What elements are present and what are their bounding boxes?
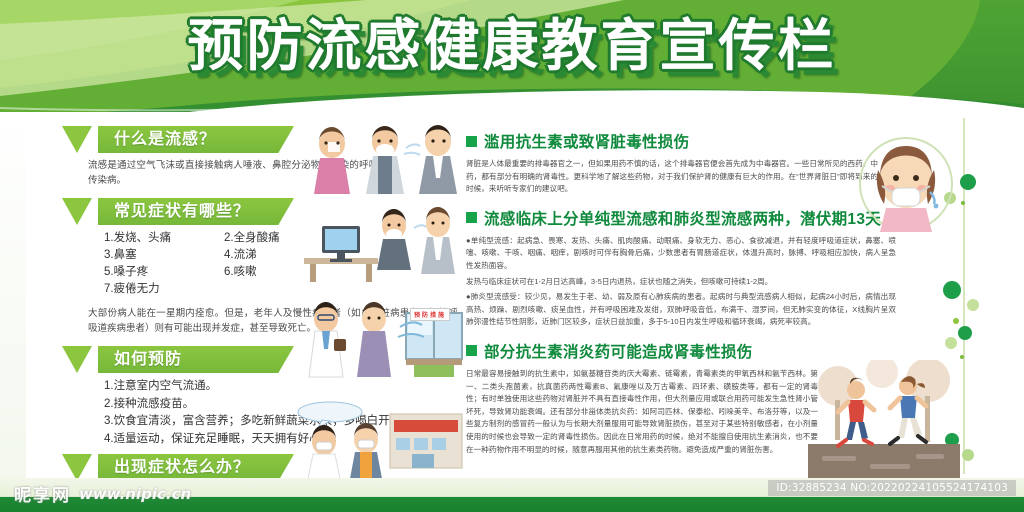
left-edge-strip	[0, 112, 26, 484]
section-banner: 如何预防	[62, 346, 294, 373]
illustration-sneezing-people	[300, 122, 470, 202]
decor-dot	[962, 449, 974, 461]
decor-dot	[960, 174, 976, 190]
section-antibiotic-kidney-damage: 滥用抗生素或致肾脏毒性损伤 肾脏是人体最重要的排毒器官之一，但如果用药不慎的话，…	[466, 130, 906, 196]
decor-dot	[943, 281, 961, 299]
chevron-marker-icon	[62, 126, 92, 153]
watermark: 昵享网 www.nipic.cn	[14, 481, 191, 506]
watermark-url: www.nipic.cn	[79, 485, 191, 503]
section-heading-row: 部分抗生素消炎药可能造成肾毒性损伤	[466, 340, 906, 362]
decor-dot	[961, 201, 965, 205]
section-title: 如何预防	[114, 346, 182, 373]
section-title: 常见症状有哪些？	[114, 198, 250, 225]
section-body: ●肺炎型流感受：较少见，易发生于老、幼、弱及原有心肺疾病的患者。起病时与典型流感…	[466, 291, 896, 329]
section-banner: 出现症状怎么办？	[62, 454, 294, 481]
decor-dot	[967, 299, 979, 311]
illustration-girl-with-mask-circle	[856, 136, 956, 232]
illustration-runners-outdoors	[808, 360, 960, 478]
decor-dot	[960, 355, 964, 359]
watermark-brand: 昵享网	[14, 481, 71, 506]
image-id-tag: ID:32885234 NO:20220224105524174103	[768, 480, 1016, 496]
section-body: ●单纯型流感：起病急、畏寒、发热、头痛、肌肉酸痛、动眼痛、身软无力、恶心、食欲减…	[466, 235, 896, 273]
bullet-square-icon	[466, 212, 477, 223]
chevron-marker-icon	[62, 198, 92, 225]
section-banner: 什么是流感？	[62, 126, 294, 153]
decor-dot	[958, 326, 972, 340]
chevron-marker-icon	[62, 346, 92, 373]
symptom-text: 3.鼻塞	[104, 247, 224, 264]
illustration-mall-and-masked-people	[294, 400, 470, 484]
decor-dot	[953, 318, 959, 324]
decor-dot	[945, 337, 957, 349]
section-title: 出现症状怎么办？	[114, 454, 250, 481]
section-body: 日常最容易接触到的抗生素中，如氨基糖苷类的庆大霉素、链霉素，青霉素类的甲氧西林和…	[466, 368, 818, 456]
right-vertical-rule	[963, 118, 965, 474]
section-banner: 常见症状有哪些？	[62, 198, 294, 225]
section-title: 什么是流感？	[114, 126, 216, 153]
section-title: 部分抗生素消炎药可能造成肾毒性损伤	[484, 340, 753, 362]
illustration-office-worker-desk	[298, 204, 466, 284]
section-body: 肾脏是人体最重要的排毒器官之一，但如果用药不慎的话，这个排毒器官便会首先成为中毒…	[466, 158, 878, 196]
health-education-poster: 预防流感健康教育宣传栏 什么是流感？ 流感是通过空气飞沫或直接接触病人唾液、鼻腔…	[0, 0, 1024, 512]
section-title: 滥用抗生素或致肾脏毒性损伤	[484, 130, 689, 152]
page-title: 预防流感健康教育宣传栏	[188, 18, 837, 77]
section-flu-clinical-types: 流感临床上分单纯型流感和肺炎型流感两种，潜伏期13天 ●单纯型流感：起病急、畏寒…	[466, 207, 906, 329]
section-heading-row: 滥用抗生素或致肾脏毒性损伤	[466, 130, 906, 152]
symptom-text: 5.嗓子疼	[104, 264, 224, 281]
poster-footer: 昵享网 www.nipic.cn ID:32885234 NO:20220224…	[0, 478, 1024, 512]
prevention-caption-badge: 预防措施	[410, 308, 450, 321]
section-body: 发热与临床症状可在1-2月日达高峰，3-5日内退热，症状也随之消失，但咳嗽可持续…	[466, 276, 896, 289]
symptom-text: 7.疲倦无力	[104, 281, 224, 298]
symptom-text: 1.发烧、头痛	[104, 230, 224, 247]
poster-content: 什么是流感？ 流感是通过空气飞沫或直接接触病人唾液、鼻腔分泌物而感染的呼吸道传染…	[0, 112, 1024, 484]
chevron-marker-icon	[62, 454, 92, 481]
section-title: 流感临床上分单纯型流感和肺炎型流感两种，潜伏期13天	[484, 207, 881, 229]
poster-title-container: 预防流感健康教育宣传栏	[0, 18, 1024, 77]
section-heading-row: 流感临床上分单纯型流感和肺炎型流感两种，潜伏期13天	[466, 207, 906, 229]
poster-header: 预防流感健康教育宣传栏	[0, 0, 1024, 118]
